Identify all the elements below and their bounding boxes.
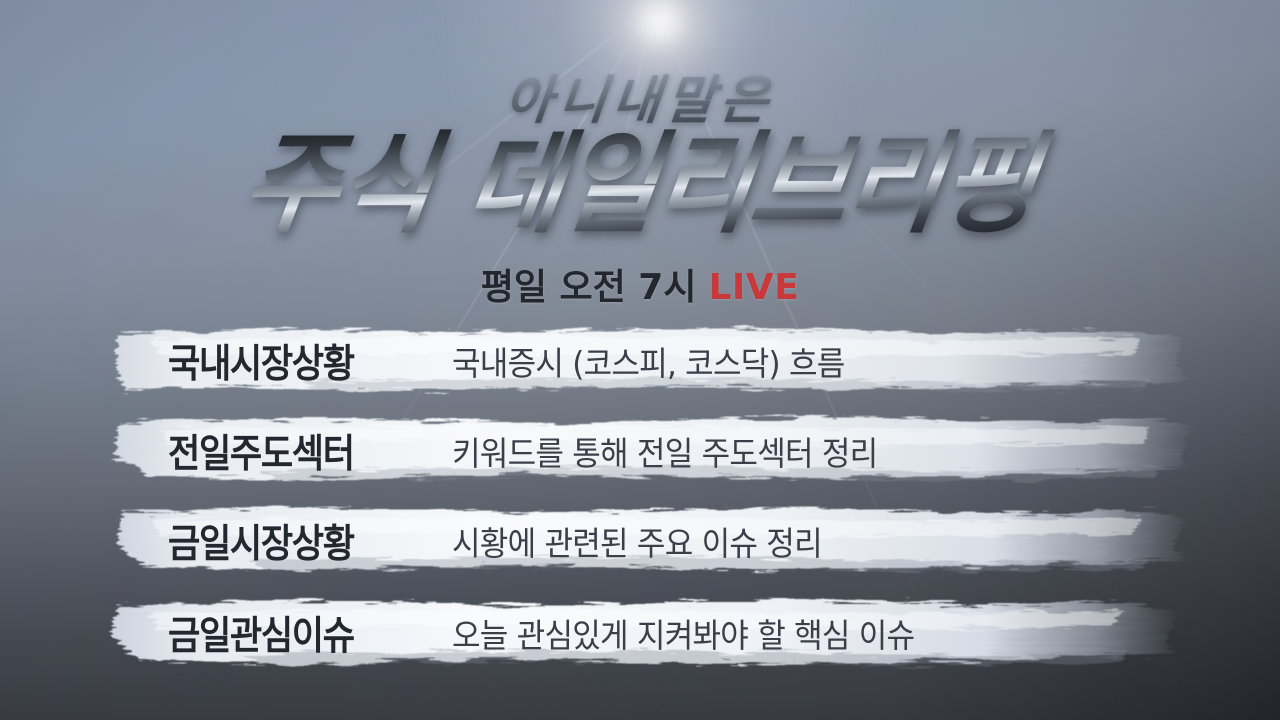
list-item[interactable]: 전일주도섹터 키워드를 통해 전일 주도섹터 정리 [0, 408, 1280, 494]
broadcast-title-card: 아니내말은 주식 데일리브리핑 평일 오전 7시LIVE [0, 0, 1280, 720]
list-item[interactable]: 금일시장상황 시황에 관련된 주요 이슈 정리 [0, 498, 1280, 584]
segment-label: 금일관심이슈 [168, 605, 354, 661]
segment-description: 국내증시 (코스피, 코스닥) 흐름 [452, 337, 845, 385]
segment-description: 오늘 관심있게 지켜봐야 할 핵심 이슈 [452, 609, 914, 657]
segment-description: 시황에 관련된 주요 이슈 정리 [452, 517, 822, 565]
list-item[interactable]: 국내시장상황 국내증시 (코스피, 코스닥) 흐름 [0, 318, 1280, 404]
segment-description: 키워드를 통해 전일 주도섹터 정리 [452, 427, 877, 475]
segment-label: 전일주도섹터 [168, 423, 354, 479]
list-item[interactable]: 금일관심이슈 오늘 관심있게 지켜봐야 할 핵심 이슈 [0, 590, 1280, 676]
segment-list: 국내시장상황 국내증시 (코스피, 코스닥) 흐름 [0, 0, 1280, 720]
segment-label: 금일시장상황 [168, 513, 354, 569]
segment-label: 국내시장상황 [168, 333, 354, 389]
